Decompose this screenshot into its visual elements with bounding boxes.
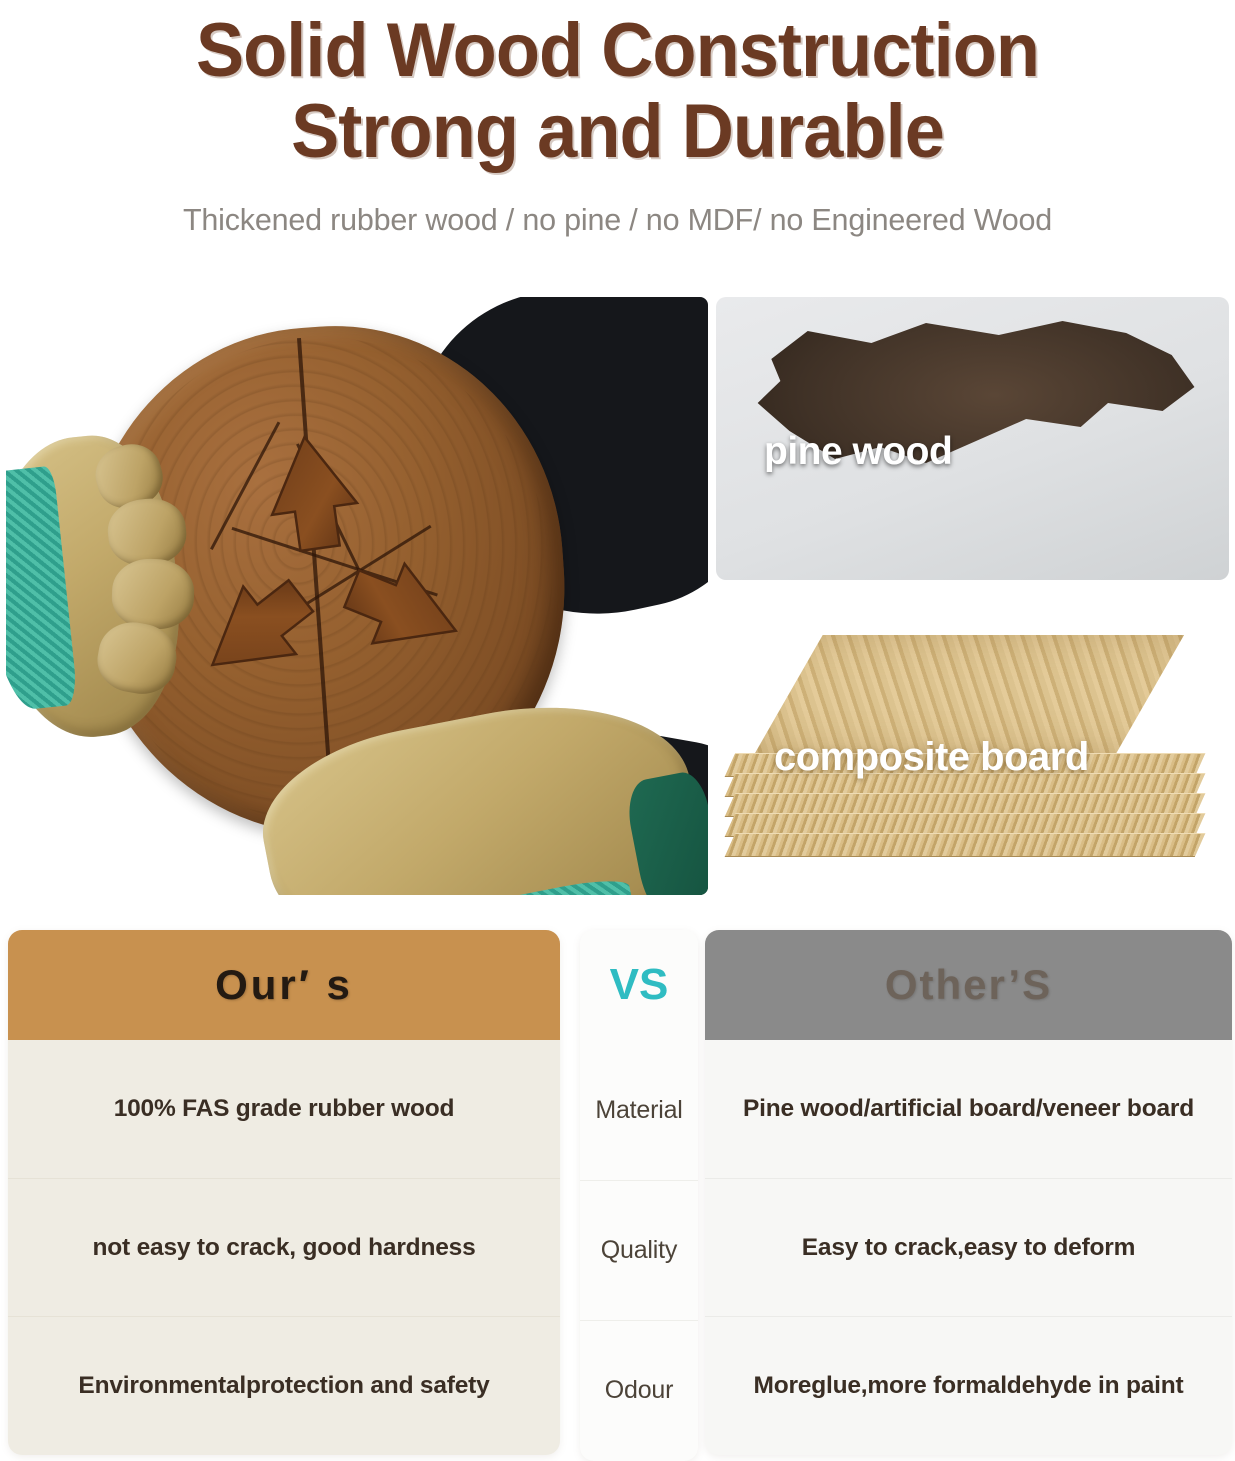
table-row: Pine wood/artificial board/veneer board bbox=[705, 1040, 1232, 1178]
headline-line-2: Strong and Durable bbox=[31, 91, 1204, 172]
page-subtitle: Thickened rubber wood / no pine / no MDF… bbox=[0, 203, 1235, 238]
attribute-quality: Quality bbox=[601, 1236, 677, 1265]
table-row: Easy to crack,easy to deform bbox=[705, 1178, 1232, 1316]
photo-main-wood-slice bbox=[6, 297, 708, 895]
finger-3 bbox=[111, 558, 195, 631]
page-title: Solid Wood Construction Strong and Durab… bbox=[31, 10, 1204, 173]
ours-cell-quality: not easy to crack, good hardness bbox=[93, 1233, 476, 1262]
photo-pine-wood: pine wood bbox=[716, 297, 1229, 580]
ours-rows: 100% FAS grade rubber wood not easy to c… bbox=[8, 1040, 560, 1454]
product-infographic: { "header": { "headline_line1": "Solid W… bbox=[0, 0, 1235, 1461]
table-row: Material bbox=[580, 1040, 698, 1180]
osb-layer bbox=[725, 833, 1206, 857]
attribute-material: Material bbox=[595, 1096, 682, 1125]
table-row: Environmentalprotection and safety bbox=[8, 1316, 560, 1454]
ours-cell-odour: Environmentalprotection and safety bbox=[78, 1371, 489, 1400]
others-header: Other’S bbox=[705, 930, 1232, 1040]
table-row: Moreglue,more formaldehyde in paint bbox=[705, 1316, 1232, 1454]
pine-wood-label: pine wood bbox=[764, 430, 952, 474]
vs-header: VS bbox=[580, 930, 698, 1040]
ours-cell-material: 100% FAS grade rubber wood bbox=[114, 1094, 455, 1123]
photo-grid: pine wood composite board bbox=[0, 297, 1235, 897]
ours-title: Our′ s bbox=[215, 961, 353, 1009]
comparison-table: Our′ s 100% FAS grade rubber wood not ea… bbox=[0, 930, 1235, 1461]
pine-hole bbox=[744, 315, 1199, 515]
glove-left-fingers bbox=[12, 447, 192, 737]
attribute-odour: Odour bbox=[605, 1376, 673, 1405]
others-cell-odour: Moreglue,more formaldehyde in paint bbox=[754, 1371, 1184, 1400]
vs-label: VS bbox=[610, 960, 669, 1010]
others-cell-quality: Easy to crack,easy to deform bbox=[802, 1233, 1135, 1262]
comparison-column-others: Other’S Pine wood/artificial board/venee… bbox=[705, 930, 1232, 1455]
composite-board-label: composite board bbox=[774, 735, 1089, 780]
table-row: not easy to crack, good hardness bbox=[8, 1178, 560, 1316]
finger-4 bbox=[93, 617, 182, 699]
table-row: Quality bbox=[580, 1180, 698, 1320]
comparison-column-ours: Our′ s 100% FAS grade rubber wood not ea… bbox=[8, 930, 560, 1455]
others-rows: Pine wood/artificial board/veneer board … bbox=[705, 1040, 1232, 1454]
photo-composite-board: composite board bbox=[716, 627, 1229, 895]
table-row: Odour bbox=[580, 1320, 698, 1460]
others-title: Other’S bbox=[885, 961, 1052, 1009]
headline-line-1: Solid Wood Construction bbox=[31, 10, 1204, 91]
attribute-rows: Material Quality Odour bbox=[580, 1040, 698, 1460]
table-row: 100% FAS grade rubber wood bbox=[8, 1040, 560, 1178]
header-block: Solid Wood Construction Strong and Durab… bbox=[0, 0, 1235, 238]
others-cell-material: Pine wood/artificial board/veneer board bbox=[743, 1094, 1194, 1123]
ours-header: Our′ s bbox=[8, 930, 560, 1040]
comparison-column-attributes: VS Material Quality Odour bbox=[580, 930, 698, 1461]
